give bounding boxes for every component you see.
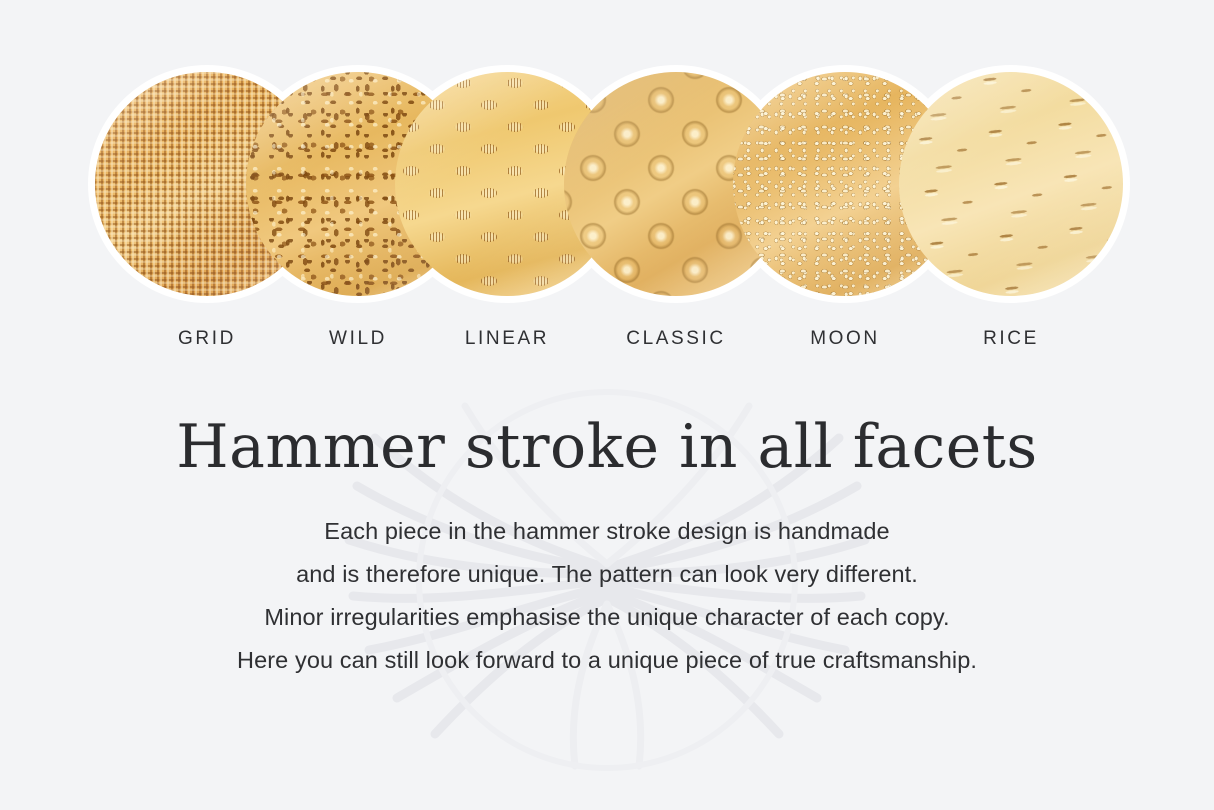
swatch-label-grid: GRID (178, 328, 236, 350)
disc-rice (899, 72, 1123, 296)
body-copy: Each piece in the hammer stroke design i… (0, 480, 1214, 682)
content-block: Hammer stroke in all facets Each piece i… (0, 390, 1214, 682)
swatch-label-classic: CLASSIC (626, 328, 726, 350)
page-headline: Hammer stroke in all facets (0, 390, 1214, 480)
swatch-label-moon: MOON (810, 328, 880, 350)
swatch-rice[interactable]: RICE (899, 72, 1123, 296)
body-line-3: Minor irregularities emphasise the uniqu… (0, 596, 1214, 639)
body-line-1: Each piece in the hammer stroke design i… (0, 510, 1214, 553)
swatch-row: GRID WILD LINEAR (0, 0, 1214, 372)
body-line-4: Here you can still look forward to a uni… (0, 639, 1214, 682)
texture-rice (899, 72, 1123, 296)
swatch-label-rice: RICE (983, 328, 1039, 350)
swatch-label-wild: WILD (329, 328, 387, 350)
body-line-2: and is therefore unique. The pattern can… (0, 553, 1214, 596)
swatch-label-linear: LINEAR (465, 328, 549, 350)
